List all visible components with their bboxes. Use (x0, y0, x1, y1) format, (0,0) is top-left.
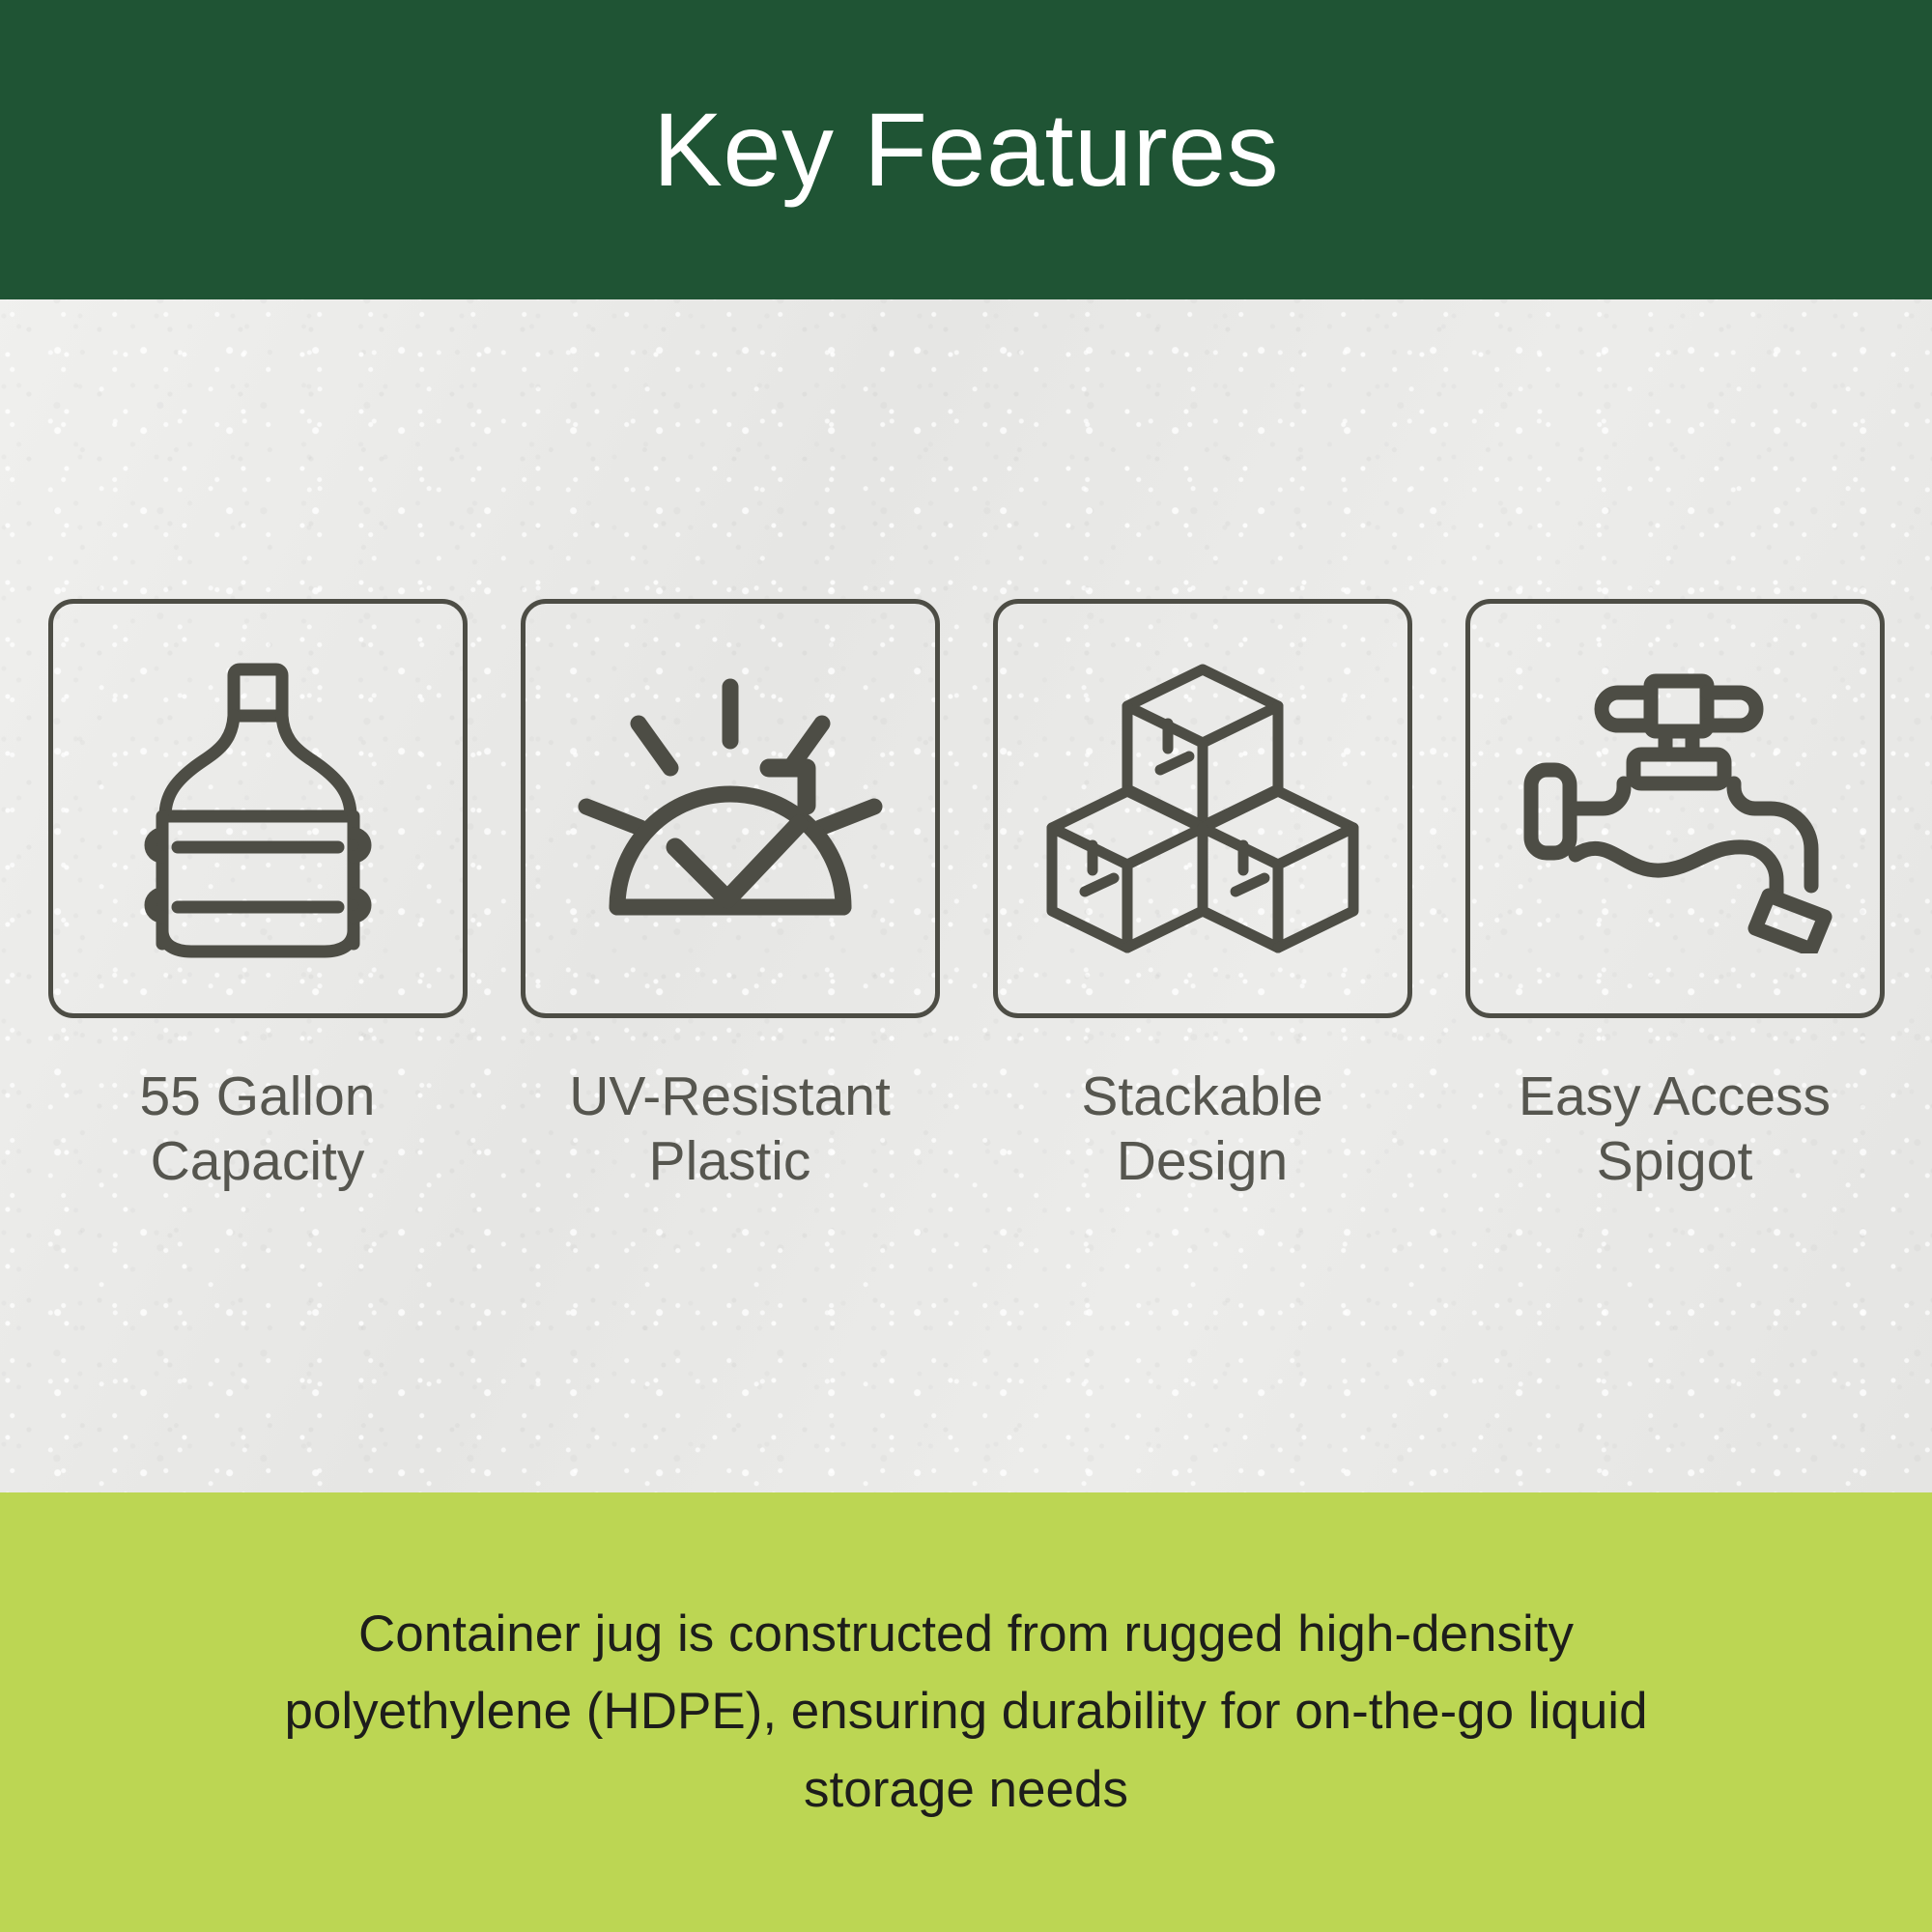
infographic-page: Key Features (0, 0, 1932, 1932)
feature-label-spigot: Easy Access Spigot (1519, 1065, 1831, 1193)
header-banner: Key Features (0, 0, 1932, 299)
feature-item-capacity[interactable]: 55 Gallon Capacity (48, 599, 468, 1193)
feature-item-spigot[interactable]: Easy Access Spigot (1465, 599, 1885, 1193)
feature-tile-stackable[interactable] (993, 599, 1412, 1018)
faucet-spigot-icon (1516, 664, 1834, 953)
feature-item-stackable[interactable]: Stackable Design (993, 599, 1412, 1193)
feature-item-uv[interactable]: UV-Resistant Plastic (521, 599, 940, 1193)
page-title: Key Features (653, 98, 1279, 202)
footer-description: Container jug is constructed from rugged… (280, 1596, 1652, 1830)
uv-sun-resistance-icon (571, 664, 890, 953)
water-jug-icon (118, 654, 398, 963)
feature-row: 55 Gallon Capacity (0, 599, 1932, 1193)
footer-banner: Container jug is constructed from rugged… (0, 1492, 1932, 1932)
feature-label-capacity: 55 Gallon Capacity (139, 1065, 375, 1193)
feature-tile-spigot[interactable] (1465, 599, 1885, 1018)
stacked-boxes-icon (1043, 654, 1362, 963)
feature-label-uv: UV-Resistant Plastic (569, 1065, 891, 1193)
feature-tile-uv[interactable] (521, 599, 940, 1018)
feature-label-stackable: Stackable Design (1081, 1065, 1322, 1193)
feature-tile-capacity[interactable] (48, 599, 468, 1018)
